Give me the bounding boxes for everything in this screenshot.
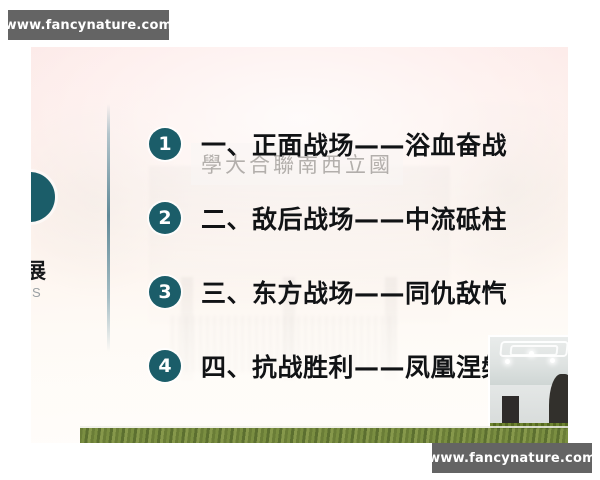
vertical-divider <box>107 104 110 352</box>
list-item-label-4: 四、抗战胜利——凤凰涅槃 <box>201 348 507 384</box>
number-badge-1: 1 <box>149 128 181 160</box>
list-item[interactable]: 1 一、正面战场——浴血奋战 <box>149 107 568 181</box>
slide-canvas: 學大合聯南西立國 展 S 1 一、正面战场——浴血奋战 2 二、敌后战场——中流… <box>31 47 568 443</box>
list-item-label-3: 三、东方战场——同仇敌忾 <box>201 274 507 310</box>
number-badge-4: 4 <box>149 350 181 382</box>
clipped-badge-icon <box>31 172 55 222</box>
clipped-left-text: 展 <box>31 255 46 285</box>
video-ceiling-cove-inner <box>510 345 559 356</box>
list-item-label-1: 一、正面战场——浴血奋战 <box>201 126 507 162</box>
list-item-label-2: 二、敌后战场——中流砥柱 <box>201 200 507 236</box>
watermark-top: www.fancynature.com <box>8 10 169 40</box>
watermark-bottom: www.fancynature.com <box>432 443 592 473</box>
list-item[interactable]: 2 二、敌后战场——中流砥柱 <box>149 181 568 255</box>
grass-strip <box>80 428 568 443</box>
video-ceiling-light <box>505 359 510 364</box>
number-badge-3: 3 <box>149 276 181 308</box>
video-ceiling-light <box>550 358 555 363</box>
clipped-left-subtext: S <box>32 285 42 300</box>
inset-video-thumbnail[interactable] <box>488 335 568 431</box>
number-badge-2: 2 <box>149 202 181 234</box>
video-doorway <box>502 396 519 424</box>
list-item[interactable]: 3 三、东方战场——同仇敌忾 <box>149 255 568 329</box>
